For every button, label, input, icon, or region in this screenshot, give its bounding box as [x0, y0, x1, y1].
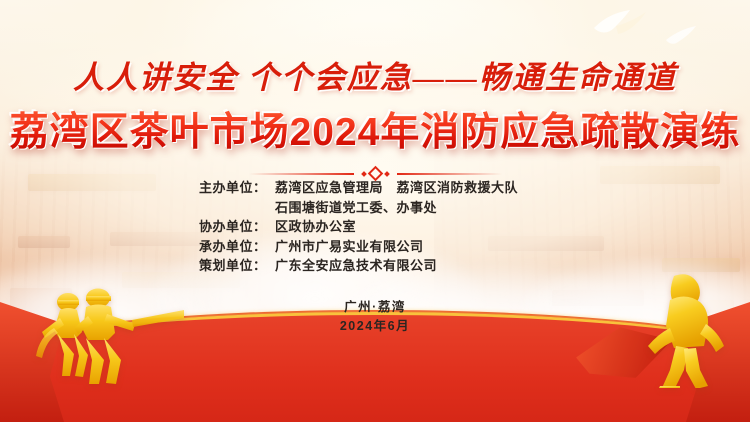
- organizer-row: 主办单位： 荔湾区应急管理局 荔湾区消防救援大队: [199, 178, 551, 198]
- organizer-value-continued: 石围塘街道党工委、办事处: [275, 198, 551, 218]
- fire-drill-poster: 人人讲安全 个个会应急——畅通生命通道 荔湾区茶叶市场2024年消防应急疏散演练…: [0, 0, 750, 422]
- organizer-row: 承办单位： 广州市广易实业有限公司: [199, 237, 551, 257]
- footer-location: 广州·荔湾: [0, 298, 750, 317]
- dove-icon: [590, 6, 650, 40]
- organizer-label: 承办单位：: [199, 237, 275, 257]
- poster-subtitle: 人人讲安全 个个会应急——畅通生命通道: [0, 52, 750, 97]
- organizer-value: 荔湾区应急管理局 荔湾区消防救援大队: [275, 178, 551, 198]
- organizer-value: 广东全安应急技术有限公司: [275, 256, 551, 276]
- organizer-value: 广州市广易实业有限公司: [275, 237, 551, 257]
- poster-main-title: 荔湾区茶叶市场2024年消防应急疏散演练: [0, 101, 750, 157]
- organizer-list: 主办单位： 荔湾区应急管理局 荔湾区消防救援大队 石围塘街道党工委、办事处 协办…: [0, 178, 750, 276]
- organizer-label: 主办单位：: [199, 178, 275, 198]
- divider-line-left: [249, 173, 354, 175]
- footer-date: 2024年6月: [0, 317, 750, 336]
- organizer-label: 协办单位：: [199, 217, 275, 237]
- organizer-row: 协办单位： 区政协办公室: [199, 217, 551, 237]
- divider-line-right: [397, 173, 502, 175]
- poster-footer: 广州·荔湾 2024年6月: [0, 298, 750, 336]
- dove-icon: [664, 24, 706, 48]
- organizer-row: 策划单位： 广东全安应急技术有限公司: [199, 256, 551, 276]
- organizer-value: 区政协办公室: [275, 217, 551, 237]
- organizer-label: 策划单位：: [199, 256, 275, 276]
- organizer-row-continuation: 石围塘街道党工委、办事处: [199, 198, 551, 218]
